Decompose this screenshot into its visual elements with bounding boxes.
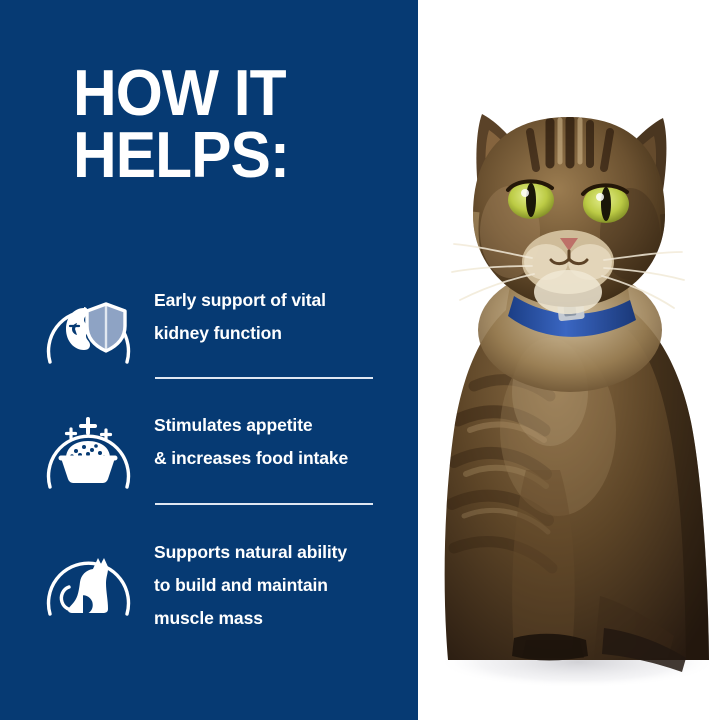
kidney-shield-icon <box>36 278 141 378</box>
feature-text: Early support of vital kidney function <box>154 278 326 350</box>
feature-text: Supports natural ability to build and ma… <box>154 530 347 635</box>
feature-divider-1 <box>155 377 373 379</box>
feature-item-kidney: Early support of vital kidney function <box>36 278 396 378</box>
feature-text: Stimulates appetite & increases food int… <box>154 403 348 475</box>
feature-divider-2 <box>155 503 373 505</box>
promo-card: HOW IT HELPS: Early support of vital kid… <box>0 0 720 720</box>
cat-eye-left <box>508 181 554 219</box>
sitting-cat-icon <box>36 530 141 630</box>
feature-item-muscle: Supports natural ability to build and ma… <box>36 530 396 635</box>
feature-item-appetite: Stimulates appetite & increases food int… <box>36 403 396 503</box>
cat-photo <box>418 0 720 720</box>
cat-eye-right <box>583 185 629 223</box>
food-bowl-sparkle-icon <box>36 403 141 503</box>
cat-head <box>452 114 684 314</box>
info-panel: HOW IT HELPS: Early support of vital kid… <box>0 0 418 720</box>
page-title: HOW IT HELPS: <box>73 62 380 186</box>
